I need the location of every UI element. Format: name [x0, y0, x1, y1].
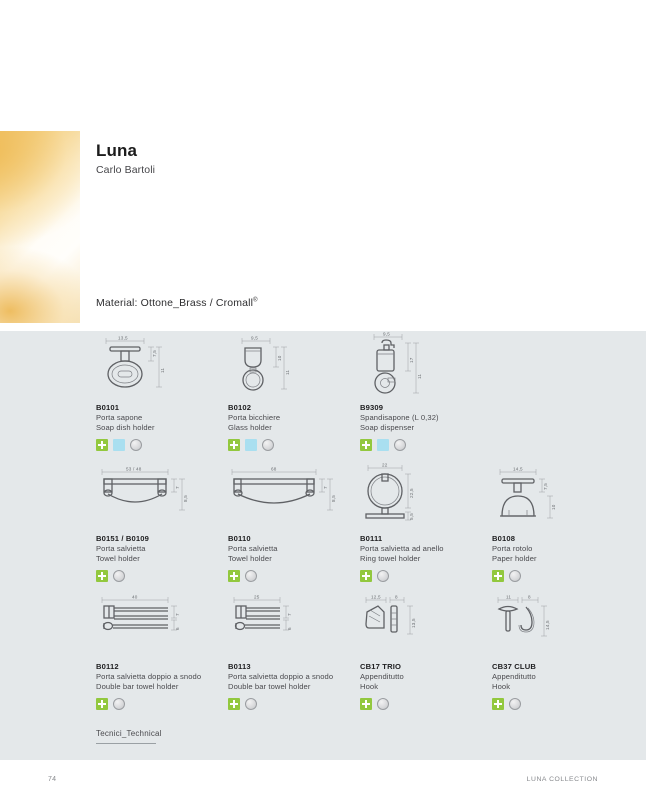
product-code: B0102: [228, 403, 350, 413]
product-grid: 13,5 7,5 11: [0, 331, 646, 710]
svg-text:7: 7: [287, 613, 292, 616]
svg-text:13,5: 13,5: [118, 336, 128, 341]
svg-text:22: 22: [382, 463, 388, 468]
finish-swatches: [228, 698, 350, 710]
swatch-chrome-circle-icon[interactable]: [394, 439, 406, 451]
product-code: B0113: [228, 662, 350, 672]
product-code: B0111: [360, 534, 482, 544]
swatch-green-plus-icon[interactable]: [360, 570, 372, 582]
svg-text:8,5: 8,5: [331, 495, 336, 502]
swatch-green-plus-icon[interactable]: [492, 570, 504, 582]
swatch-green-plus-icon[interactable]: [360, 439, 372, 451]
finish-swatches: [96, 439, 218, 451]
swatch-green-plus-icon[interactable]: [96, 570, 108, 582]
product-name-it: Appenditutto: [360, 672, 482, 682]
product-name-it: Porta bicchiere: [228, 413, 350, 423]
svg-text:13,5: 13,5: [411, 618, 416, 628]
swatch-chrome-circle-icon[interactable]: [262, 439, 274, 451]
product-name-en: Double bar towel holder: [96, 682, 218, 692]
swatch-chrome-circle-icon[interactable]: [113, 698, 125, 710]
swatch-chrome-circle-icon[interactable]: [377, 570, 389, 582]
swatch-chrome-circle-icon[interactable]: [245, 570, 257, 582]
svg-text:8,5: 8,5: [183, 495, 188, 502]
svg-text:7,5: 7,5: [152, 350, 157, 357]
product-name-en: Soap dish holder: [96, 423, 218, 433]
product-code: B0110: [228, 534, 350, 544]
swatch-light-blue-icon[interactable]: [245, 439, 257, 451]
finish-swatches: [96, 570, 218, 582]
product-code: B9309: [360, 403, 482, 413]
product-name-it: Porta salvietta: [228, 544, 350, 554]
product-panel: 13,5 7,5 11: [0, 331, 646, 760]
product-drawing-soap-dispenser: 9,5 17 11: [360, 331, 482, 403]
product-code: B0151 / B0109: [96, 534, 218, 544]
svg-text:40: 40: [132, 595, 138, 600]
svg-text:11: 11: [417, 374, 422, 379]
finish-swatches: [228, 439, 350, 451]
gold-gradient-photo: [0, 131, 80, 323]
product-name-it: Porta salvietta doppio a snodo: [228, 672, 350, 682]
product-code: B0112: [96, 662, 218, 672]
product-card-cb17-trio[interactable]: 12,5 8 13,5: [360, 590, 482, 710]
product-name-it: Porta salvietta: [96, 544, 218, 554]
svg-text:7: 7: [175, 486, 180, 489]
swatch-chrome-circle-icon[interactable]: [509, 570, 521, 582]
product-card-b0112[interactable]: 40 7 6: [96, 590, 218, 710]
product-name-it: Porta sapone: [96, 413, 218, 423]
finish-swatches: [360, 439, 482, 451]
product-card-b0111[interactable]: 22 22,5 5,5: [360, 462, 482, 582]
product-row: 53 / 48 7 8,5: [0, 462, 646, 590]
product-drawing-double-bar-towel-holder-short: 25 7 6: [228, 590, 350, 662]
material-text: Material: Ottone_Brass / Cromall: [96, 297, 253, 309]
product-drawing-towel-holder-long: 68 7 8,5: [228, 462, 350, 534]
product-card-b0113[interactable]: 25 7 6: [228, 590, 350, 710]
product-card-b0151-b0109[interactable]: 53 / 48 7 8,5: [96, 462, 218, 582]
product-drawing-hook-club: 11 8 14,5: [492, 590, 614, 662]
product-card-b0108[interactable]: 14,5 7,5 10: [492, 462, 614, 582]
product-drawing-soap-dish: 13,5 7,5 11: [96, 331, 218, 403]
swatch-light-blue-icon[interactable]: [113, 439, 125, 451]
svg-text:8: 8: [395, 595, 398, 600]
product-drawing-double-bar-towel-holder: 40 7 6: [96, 590, 218, 662]
product-name-it: Appenditutto: [492, 672, 614, 682]
svg-text:53 / 48: 53 / 48: [126, 467, 142, 472]
swatch-chrome-circle-icon[interactable]: [509, 698, 521, 710]
finish-swatches: [228, 570, 350, 582]
swatch-chrome-circle-icon[interactable]: [113, 570, 125, 582]
swatch-green-plus-icon[interactable]: [96, 439, 108, 451]
svg-text:14,5: 14,5: [545, 620, 550, 630]
product-name-en: Hook: [360, 682, 482, 692]
hero-section: Luna Carlo Bartoli Material: Ottone_Bras…: [0, 131, 646, 323]
svg-text:11: 11: [160, 368, 165, 373]
swatch-green-plus-icon[interactable]: [228, 439, 240, 451]
product-name-en: Soap dispenser: [360, 423, 482, 433]
technical-link[interactable]: Tecnici_Technical: [96, 729, 162, 738]
swatch-green-plus-icon[interactable]: [492, 698, 504, 710]
product-drawing-towel-holder: 53 / 48 7 8,5: [96, 462, 218, 534]
finish-swatches: [492, 698, 614, 710]
product-row: 13,5 7,5 11: [0, 331, 646, 462]
product-drawing-glass-holder: 9,5 10 11: [228, 331, 350, 403]
product-name-en: Towel holder: [228, 554, 350, 564]
svg-text:68: 68: [271, 467, 277, 472]
svg-text:10: 10: [551, 504, 556, 510]
svg-text:9,5: 9,5: [383, 332, 390, 337]
svg-text:14,5: 14,5: [513, 467, 523, 472]
swatch-chrome-circle-icon[interactable]: [377, 698, 389, 710]
svg-text:7: 7: [175, 613, 180, 616]
product-card-b0101[interactable]: 13,5 7,5 11: [96, 331, 218, 451]
product-name-it: Porta salvietta ad anello: [360, 544, 482, 554]
page-title: Luna: [96, 141, 576, 161]
svg-text:9,5: 9,5: [251, 336, 258, 341]
product-name-en: Towel holder: [96, 554, 218, 564]
product-row: 40 7 6: [0, 590, 646, 710]
product-drawing-hook-trio: 12,5 8 13,5: [360, 590, 482, 662]
svg-text:11: 11: [506, 595, 511, 600]
product-name-it: Porta salvietta doppio a snodo: [96, 672, 218, 682]
page-number: 74: [48, 776, 56, 783]
hero-text-block: Luna Carlo Bartoli: [96, 141, 576, 177]
svg-text:12,5: 12,5: [371, 595, 381, 600]
svg-text:22,5: 22,5: [409, 488, 414, 498]
product-drawing-ring-towel-holder: 22 22,5 5,5: [360, 462, 482, 534]
svg-text:7: 7: [323, 486, 328, 489]
product-name-en: Hook: [492, 682, 614, 692]
svg-text:25: 25: [254, 595, 260, 600]
svg-text:8: 8: [528, 595, 531, 600]
svg-text:5,5: 5,5: [409, 513, 414, 520]
swatch-green-plus-icon[interactable]: [96, 698, 108, 710]
finish-swatches: [492, 570, 614, 582]
swatch-light-blue-icon[interactable]: [377, 439, 389, 451]
catalog-page: Luna Carlo Bartoli Material: Ottone_Bras…: [0, 0, 646, 807]
finish-swatches: [360, 570, 482, 582]
material-line: Material: Ottone_Brass / Cromall®: [96, 297, 258, 309]
swatch-green-plus-icon[interactable]: [228, 698, 240, 710]
product-name-it: Spandisapone (L 0,32): [360, 413, 482, 423]
svg-text:6: 6: [175, 627, 180, 630]
product-name-en: Ring towel holder: [360, 554, 482, 564]
product-code: CB37 CLUB: [492, 662, 614, 672]
product-code: B0108: [492, 534, 614, 544]
technical-link-underline: [96, 743, 156, 744]
product-card-cb37-club[interactable]: 11 8 14,5: [492, 590, 614, 710]
product-name-en: Double bar towel holder: [228, 682, 350, 692]
product-code: B0101: [96, 403, 218, 413]
designer-name: Carlo Bartoli: [96, 163, 576, 177]
finish-swatches: [96, 698, 218, 710]
finish-swatches: [360, 698, 482, 710]
product-code: CB17 TRIO: [360, 662, 482, 672]
swatch-chrome-circle-icon[interactable]: [130, 439, 142, 451]
page-footer: 74 LUNA COLLECTION: [0, 760, 646, 807]
swatch-chrome-circle-icon[interactable]: [245, 698, 257, 710]
product-card-b0110[interactable]: 68 7 8,5: [228, 462, 350, 582]
product-drawing-paper-holder: 14,5 7,5 10: [492, 462, 614, 534]
svg-text:7,5: 7,5: [543, 483, 548, 490]
registered-mark: ®: [253, 298, 258, 304]
swatch-green-plus-icon[interactable]: [228, 570, 240, 582]
product-name-en: Paper holder: [492, 554, 614, 564]
svg-text:11: 11: [285, 370, 290, 375]
svg-text:10: 10: [277, 355, 282, 361]
product-card-b0102[interactable]: 9,5 10 11: [228, 331, 350, 451]
svg-text:6: 6: [287, 627, 292, 630]
swatch-green-plus-icon[interactable]: [360, 698, 372, 710]
svg-text:17: 17: [409, 357, 414, 363]
footer-collection-label: LUNA COLLECTION: [527, 776, 598, 783]
product-name-it: Porta rotolo: [492, 544, 614, 554]
product-name-en: Glass holder: [228, 423, 350, 433]
product-card-b9309[interactable]: 9,5 17 11: [360, 331, 482, 451]
